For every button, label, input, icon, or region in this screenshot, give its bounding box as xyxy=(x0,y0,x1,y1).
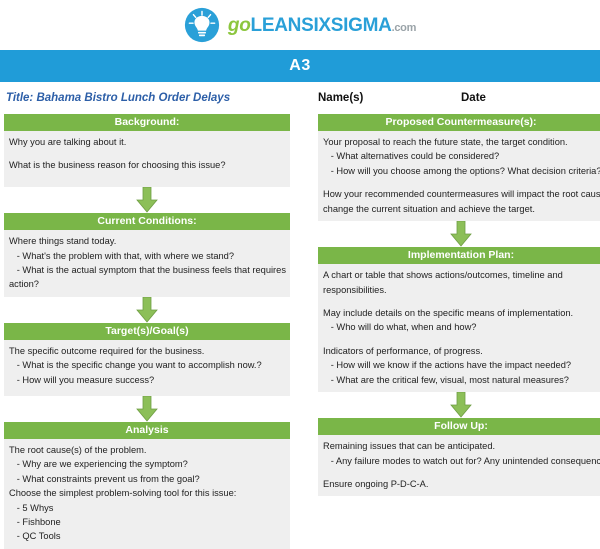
section-analysis: AnalysisThe root cause(s) of the problem… xyxy=(4,422,290,549)
body-line: Where things stand today. xyxy=(9,234,285,248)
section-heading-follow-up: Follow Up: xyxy=(318,418,600,435)
body-line: - How will you choose among the options?… xyxy=(323,164,599,178)
right-column: Proposed Countermeasure(s):Your proposal… xyxy=(318,114,600,549)
a3-body: Background:Why you are talking about it.… xyxy=(0,114,600,549)
body-line: Indicators of performance, of progress. xyxy=(323,344,599,358)
section-heading-analysis: Analysis xyxy=(4,422,290,439)
spacer xyxy=(323,178,599,187)
body-line: - What is the actual symptom that the bu… xyxy=(9,263,285,277)
body-line: Why you are talking about it. xyxy=(9,135,285,149)
logo-dotcom-text: .com xyxy=(392,22,416,34)
logo-go-text: go xyxy=(228,15,251,36)
logo-main-text: LEANSIXSIGMA xyxy=(251,15,392,36)
section-heading-background: Background: xyxy=(4,114,290,131)
section-heading-targets-goals: Target(s)/Goal(s) xyxy=(4,323,290,340)
a3-title-band: A3 xyxy=(0,50,600,82)
body-line: - Who will do what, when and how? xyxy=(323,320,599,334)
date-label: Date xyxy=(461,92,486,104)
section-body-targets-goals: The specific outcome required for the bu… xyxy=(4,340,290,396)
flow-arrow xyxy=(4,396,290,422)
logo[interactable]: goLEANSIXSIGMA.com xyxy=(184,7,416,43)
body-line: - QC Tools xyxy=(9,529,285,543)
flow-arrow xyxy=(4,297,290,323)
body-line: What is the business reason for choosing… xyxy=(9,158,285,172)
section-body-implementation-plan: A chart or table that shows actions/outc… xyxy=(318,264,600,392)
spacer xyxy=(323,468,599,477)
spacer xyxy=(323,335,599,344)
section-heading-implementation-plan: Implementation Plan: xyxy=(318,247,600,264)
body-line: A chart or table that shows actions/outc… xyxy=(323,268,599,282)
page-title: Title: Bahama Bistro Lunch Order Delays xyxy=(6,92,318,104)
body-line: change the current situation and achieve… xyxy=(323,202,599,216)
body-line: Your proposal to reach the future state,… xyxy=(323,135,599,149)
section-background: Background:Why you are talking about it.… xyxy=(4,114,290,187)
section-heading-current-conditions: Current Conditions: xyxy=(4,213,290,230)
flow-arrow xyxy=(318,392,600,418)
section-targets-goals: Target(s)/Goal(s)The specific outcome re… xyxy=(4,323,290,396)
body-line: The specific outcome required for the bu… xyxy=(9,344,285,358)
brand-header: goLEANSIXSIGMA.com xyxy=(0,0,600,50)
section-body-background: Why you are talking about it.What is the… xyxy=(4,131,290,187)
spacer xyxy=(9,149,285,158)
section-implementation-plan: Implementation Plan:A chart or table tha… xyxy=(318,247,600,392)
section-proposed-countermeasures: Proposed Countermeasure(s):Your proposal… xyxy=(318,114,600,221)
body-line: The root cause(s) of the problem. xyxy=(9,443,285,457)
section-body-proposed-countermeasures: Your proposal to reach the future state,… xyxy=(318,131,600,221)
body-line: Ensure ongoing P-D-C-A. xyxy=(323,477,599,491)
body-line: - What's the problem with that, with whe… xyxy=(9,249,285,263)
section-heading-proposed-countermeasures: Proposed Countermeasure(s): xyxy=(318,114,600,131)
body-line: - Any failure modes to watch out for? An… xyxy=(323,454,599,468)
body-line: How your recommended countermeasures wil… xyxy=(323,187,599,201)
section-follow-up: Follow Up:Remaining issues that can be a… xyxy=(318,418,600,496)
lightbulb-icon xyxy=(184,7,220,43)
left-column: Background:Why you are talking about it.… xyxy=(4,114,290,549)
a3-band-label: A3 xyxy=(289,57,310,75)
body-line: action? xyxy=(9,277,285,291)
section-body-current-conditions: Where things stand today. - What's the p… xyxy=(4,230,290,297)
section-current-conditions: Current Conditions:Where things stand to… xyxy=(4,213,290,297)
body-line: - How will we know if the actions have t… xyxy=(323,358,599,372)
body-line: - What constraints prevent us from the g… xyxy=(9,472,285,486)
body-line: Choose the simplest problem-solving tool… xyxy=(9,486,285,500)
body-line: - How will you measure success? xyxy=(9,373,285,387)
body-line: May include details on the specific mean… xyxy=(323,306,599,320)
spacer xyxy=(323,297,599,306)
document-meta-row: Title: Bahama Bistro Lunch Order Delays … xyxy=(0,82,600,114)
body-line: - What are the critical few, visual, mos… xyxy=(323,373,599,387)
section-body-follow-up: Remaining issues that can be anticipated… xyxy=(318,435,600,496)
flow-arrow xyxy=(318,221,600,247)
body-line: responsibilities. xyxy=(323,283,599,297)
body-line: Remaining issues that can be anticipated… xyxy=(323,439,599,453)
body-line: - What is the specific change you want t… xyxy=(9,358,285,372)
body-line: - Why are we experiencing the symptom? xyxy=(9,457,285,471)
section-body-analysis: The root cause(s) of the problem. - Why … xyxy=(4,439,290,549)
flow-arrow xyxy=(4,187,290,213)
body-line: - 5 Whys xyxy=(9,501,285,515)
names-label: Name(s) xyxy=(318,92,461,104)
body-line: - Fishbone xyxy=(9,515,285,529)
body-line: - What alternatives could be considered? xyxy=(323,149,599,163)
